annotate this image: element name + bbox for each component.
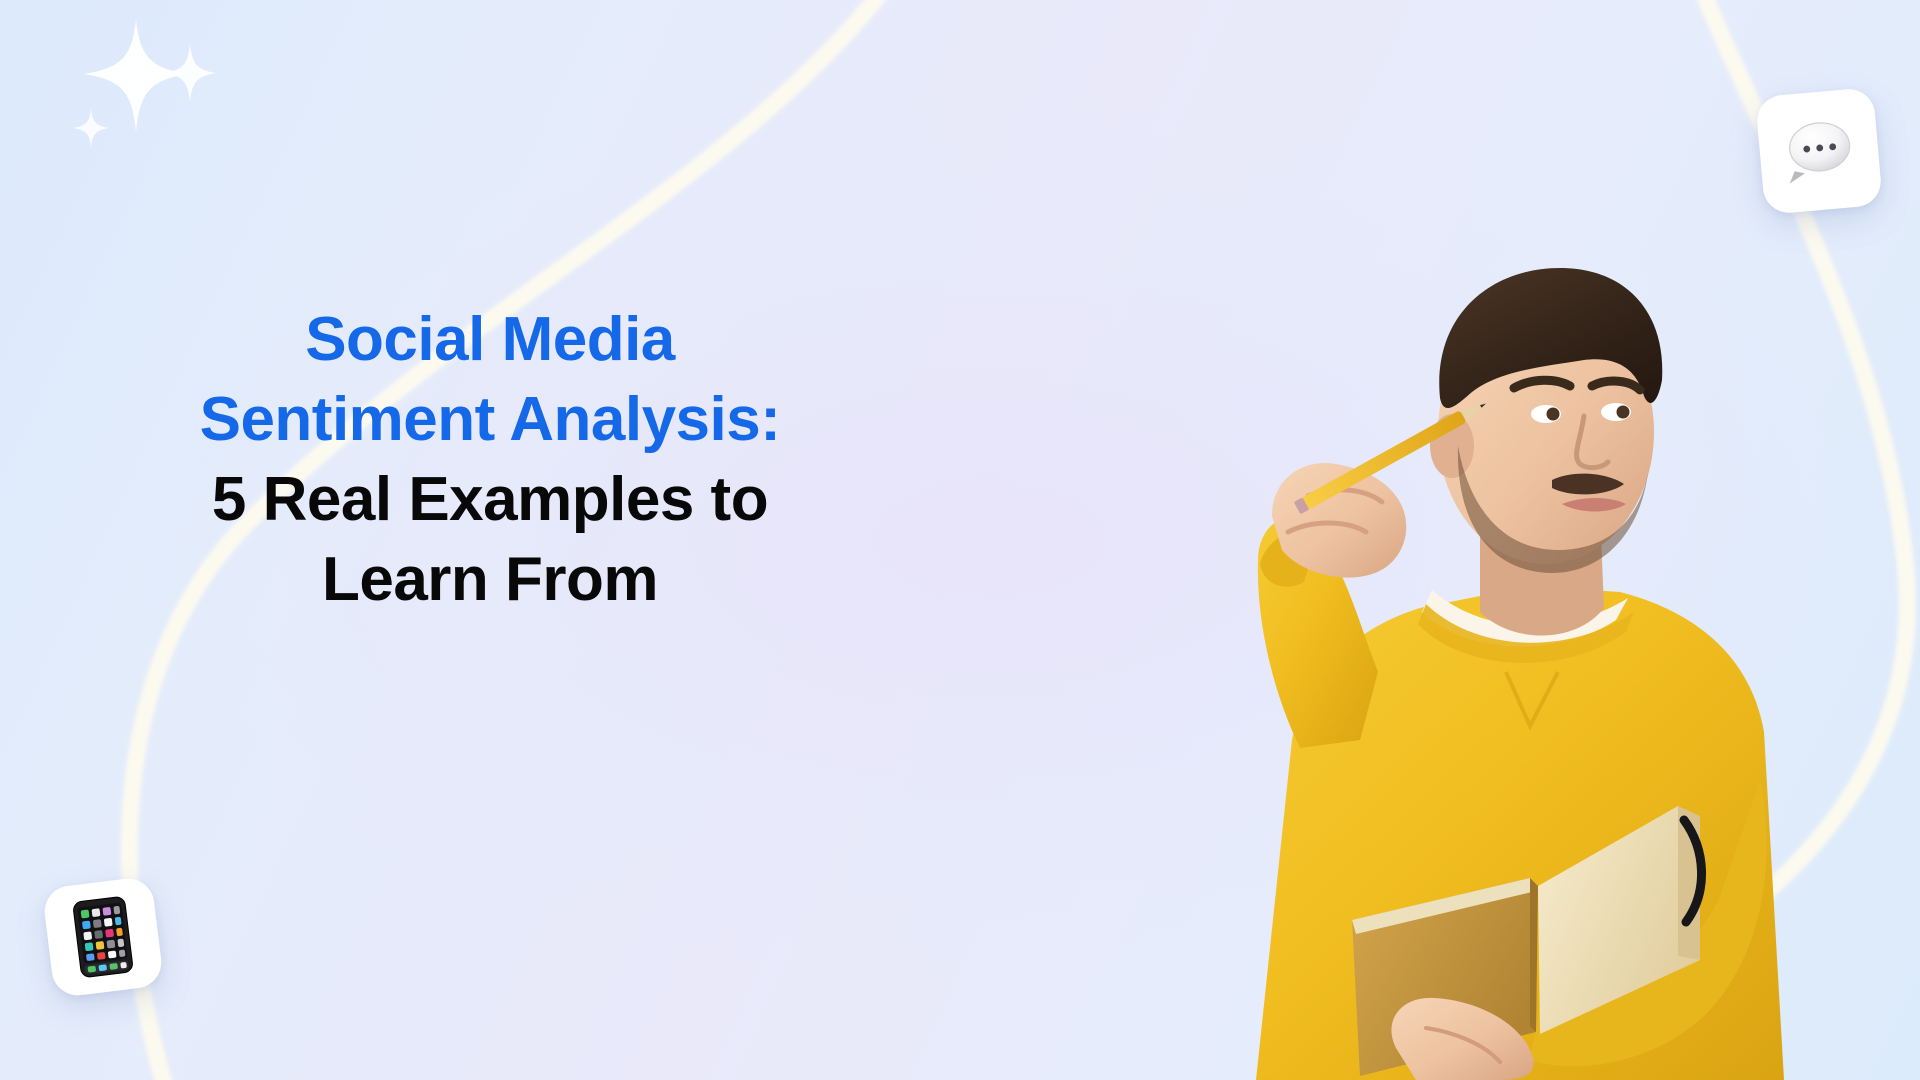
headline-line-3: 5 Real Examples to <box>100 460 880 540</box>
pupil-left <box>1547 408 1560 421</box>
sparkle-medium-icon <box>164 44 216 102</box>
page-title: Social Media Sentiment Analysis: 5 Real … <box>100 300 880 620</box>
sparkle-cluster-icon <box>58 12 218 152</box>
chat-bubble-card <box>1755 87 1883 215</box>
mobile-phone-card <box>42 876 165 999</box>
sparkle-small-icon <box>73 108 109 148</box>
speech-balloon-icon <box>1780 114 1858 188</box>
thinking-man-photo <box>1060 220 1800 1080</box>
headline-line-1: Social Media <box>100 300 880 380</box>
pupil-right <box>1617 406 1630 419</box>
mobile-phone-icon <box>70 894 135 980</box>
headline-line-2: Sentiment Analysis: <box>100 380 880 460</box>
sparkle-large-icon <box>84 20 188 132</box>
headline-line-4: Learn From <box>100 540 880 620</box>
blog-banner: Social Media Sentiment Analysis: 5 Real … <box>0 0 1920 1080</box>
